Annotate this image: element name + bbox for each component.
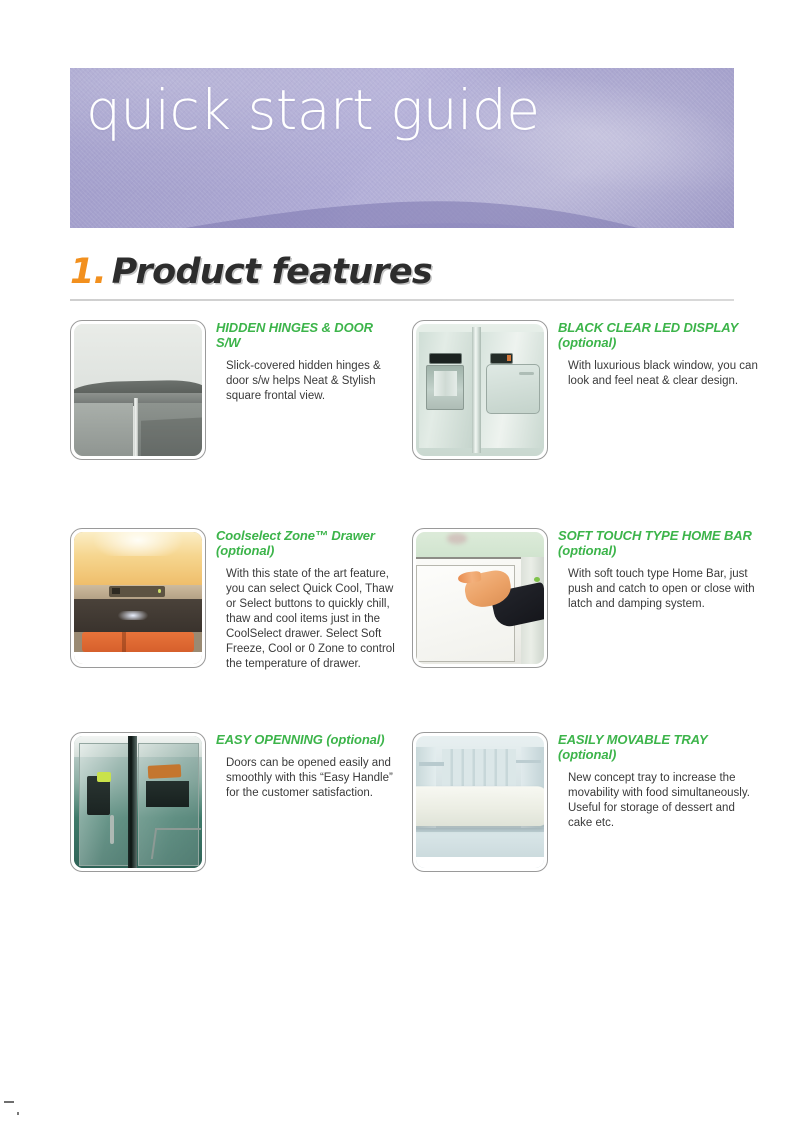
- document-page: quick start guide 1.Product features HID…: [0, 0, 802, 1124]
- feature-image-frame: [70, 320, 206, 460]
- feature-image-frame: [412, 320, 548, 460]
- coolselect-zone-drawer-photo: [74, 532, 202, 664]
- feature-body: New concept tray to increase the movabil…: [568, 771, 758, 831]
- feature-image-frame: [412, 528, 548, 668]
- feature-title: EASY OPENNING (optional): [216, 732, 400, 747]
- easy-openning-photo: [74, 736, 202, 868]
- feature-title: EASILY MOVABLE TRAY (optional): [558, 732, 758, 762]
- feature-text-block: Coolselect Zone™ Drawer (optional) With …: [216, 528, 400, 672]
- feature-text-block: BLACK CLEAR LED DISPLAY (optional) With …: [558, 320, 758, 389]
- feature-body: With soft touch type Home Bar, just push…: [568, 567, 758, 612]
- feature-text-block: HIDDEN HINGES & DOOR S/W Slick-covered h…: [216, 320, 400, 404]
- feature-text-block: EASILY MOVABLE TRAY (optional) New conce…: [558, 732, 758, 831]
- feature-title: BLACK CLEAR LED DISPLAY (optional): [558, 320, 758, 350]
- feature-body: With this state of the art feature, you …: [226, 567, 400, 672]
- feature-body: Slick-covered hidden hinges & door s/w h…: [226, 359, 400, 404]
- feature-text-block: EASY OPENNING (optional) Doors can be op…: [216, 732, 400, 801]
- black-clear-led-display-photo: [416, 324, 544, 456]
- feature-title: SOFT TOUCH TYPE HOME BAR (optional): [558, 528, 758, 558]
- feature-grid: HIDDEN HINGES & DOOR S/W Slick-covered h…: [0, 0, 802, 1124]
- soft-touch-home-bar-photo: [416, 532, 544, 664]
- feature-title: Coolselect Zone™ Drawer (optional): [216, 528, 400, 558]
- feature-image-frame: [70, 732, 206, 872]
- feature-body: With luxurious black window, you can loo…: [568, 359, 758, 389]
- feature-text-block: SOFT TOUCH TYPE HOME BAR (optional) With…: [558, 528, 758, 612]
- feature-image-frame: [412, 732, 548, 872]
- feature-body: Doors can be opened easily and smoothly …: [226, 756, 400, 801]
- feature-title: HIDDEN HINGES & DOOR S/W: [216, 320, 400, 350]
- feature-image-frame: [70, 528, 206, 668]
- easily-movable-tray-photo: [416, 736, 544, 868]
- hidden-hinges-photo: [74, 324, 202, 456]
